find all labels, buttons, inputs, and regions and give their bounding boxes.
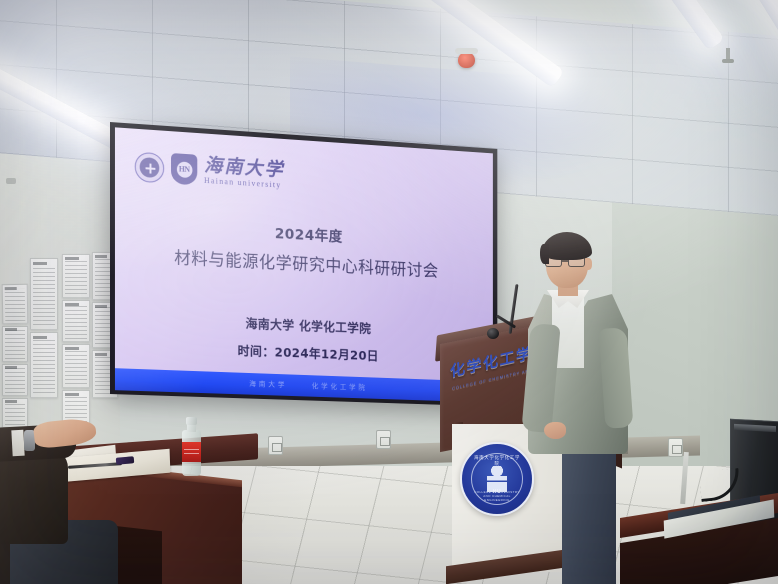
slide-footer-right-text: 化学化工学院 bbox=[312, 381, 368, 393]
poster-sheet bbox=[30, 332, 58, 398]
wall-outlet-icon[interactable] bbox=[268, 436, 283, 455]
speaker-trousers bbox=[562, 446, 616, 584]
brand-block: 海南大学 Hainan university bbox=[204, 156, 284, 190]
speaker-hair bbox=[542, 232, 592, 260]
attendee-torso bbox=[0, 448, 68, 544]
speaker-hand bbox=[544, 422, 566, 439]
university-seal-logo-icon bbox=[135, 151, 164, 183]
hainan-university-shield-logo-icon: HN bbox=[171, 153, 197, 185]
bottle-label bbox=[182, 442, 201, 462]
poster-sheet bbox=[2, 284, 29, 324]
emblem-text-cn: 海南大学化学化工学院 bbox=[472, 455, 522, 467]
right-desk bbox=[620, 518, 778, 584]
slide-title-block: 2024年度 材料与能源化学研究中心科研研讨会 bbox=[115, 213, 493, 284]
slide-footer-left-text: 海南大学 bbox=[249, 379, 287, 390]
fire-alarm-icon bbox=[458, 52, 475, 68]
shield-abbr-label: HN bbox=[179, 165, 190, 174]
speaker-right-arm bbox=[599, 327, 634, 429]
water-bottle-icon bbox=[182, 416, 201, 476]
poster-sheet bbox=[2, 326, 28, 362]
slide-logo-row: HN 海南大学 Hainan university bbox=[135, 151, 285, 191]
emblem-text-en: COLLEGE OF CHEMISTRY AND CHEMICAL ENGINE… bbox=[472, 490, 522, 502]
poster-sheet bbox=[2, 364, 28, 396]
wall-outlet-icon[interactable] bbox=[668, 438, 683, 457]
microphone-icon bbox=[487, 328, 499, 339]
seated-attendee bbox=[0, 424, 126, 584]
wall-posters bbox=[0, 246, 122, 436]
poster-sheet bbox=[30, 258, 58, 330]
poster-sheet bbox=[62, 344, 90, 388]
conference-room-photo: HN 海南大学 Hainan university 2024年度 材料与能源化学… bbox=[0, 0, 778, 584]
shield-inner-ring: HN bbox=[176, 161, 192, 178]
bottle-cap bbox=[186, 417, 197, 425]
attendee-shirt-cuff bbox=[11, 430, 24, 457]
poster-sheet bbox=[62, 254, 90, 298]
emblem-inner-ring: 海南大学化学化工学院 HU COLLEGE OF CHEMISTRY AND C… bbox=[471, 453, 523, 505]
wall-outlet-icon[interactable] bbox=[376, 430, 391, 449]
wall-smudge bbox=[6, 178, 16, 184]
poster-sheet bbox=[62, 300, 90, 342]
sprinkler-head-icon bbox=[726, 48, 730, 61]
